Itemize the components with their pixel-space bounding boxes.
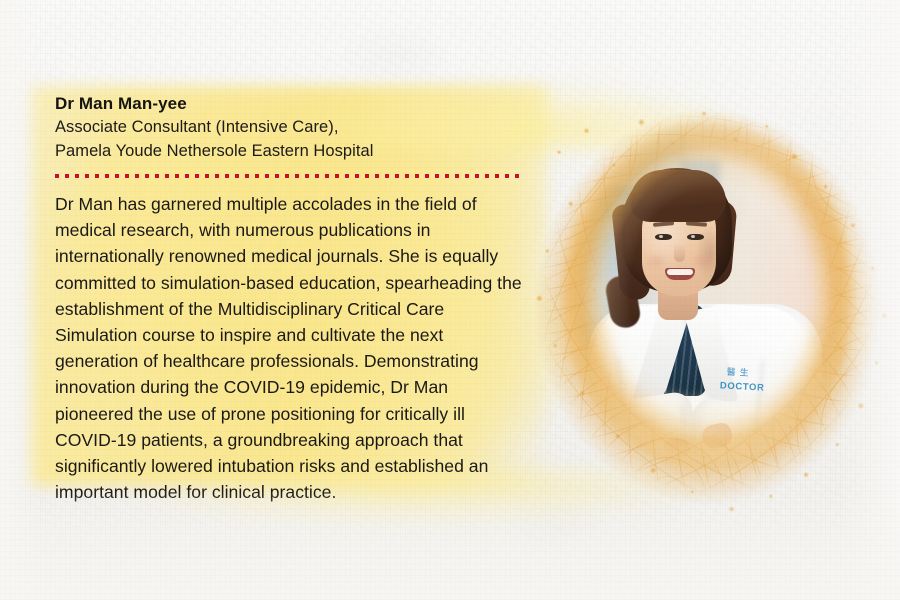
person-name: Dr Man Man-yee xyxy=(55,93,533,115)
person-role-line-2: Pamela Youde Nethersole Eastern Hospital xyxy=(55,139,533,163)
profile-text-column: Dr Man Man-yee Associate Consultant (Int… xyxy=(55,93,533,505)
teeth xyxy=(667,269,693,275)
mouth xyxy=(665,268,695,280)
nose xyxy=(674,244,685,262)
eye-left xyxy=(655,234,672,240)
person-biography: Dr Man has garnered multiple accolades i… xyxy=(55,191,525,505)
badge-chinese-label: 醫生 xyxy=(726,369,752,379)
eye-highlight-left xyxy=(659,235,663,238)
eye-right xyxy=(687,234,704,240)
cheek-left xyxy=(648,256,664,266)
cheek-right xyxy=(694,256,710,266)
hair-fringe xyxy=(630,170,726,222)
person-role-line-1: Associate Consultant (Intensive Care), xyxy=(55,115,533,139)
doctor-portrait-photo: 醫生 DOCTOR xyxy=(560,108,860,508)
profile-card: 醫生 DOCTOR Dr Man Man-yee Associate Consu… xyxy=(0,0,900,600)
photo-bottom-fade xyxy=(560,388,860,508)
eye-highlight-right xyxy=(691,235,695,238)
dotted-divider xyxy=(55,174,523,178)
